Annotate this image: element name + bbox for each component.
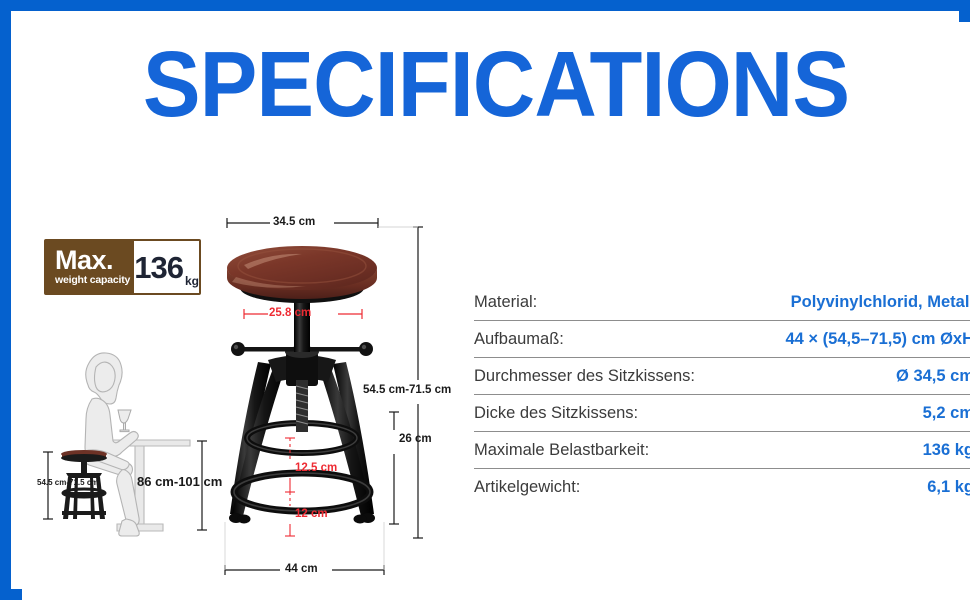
seat-base-plate (240, 273, 364, 303)
dimension-footring-lower (285, 492, 295, 536)
badge-unit: kg (185, 274, 199, 288)
badge-max-label: Max. (55, 248, 134, 273)
label-footring-upper: 12.5 cm (295, 462, 337, 474)
spec-value: Ø 34,5 cm (896, 367, 970, 386)
seated-person-silhouette (84, 353, 139, 536)
label-base-width: 44 cm (285, 563, 318, 575)
table-row: Maximale Belastbarkeit: 136 kg (474, 432, 970, 469)
label-footring-lower: 12 cm (295, 508, 328, 520)
specification-table: Material: Polyvinylchlorid, Metall Aufba… (474, 284, 970, 505)
table-row: Aufbaumaß: 44 × (54,5–71,5) cm ØxH (474, 321, 970, 358)
threaded-column (296, 380, 308, 432)
lower-foot-ring (234, 473, 370, 511)
seat-highlight-lower (232, 277, 306, 288)
max-weight-capacity-badge: Max. weight capacity 136 kg (44, 239, 201, 295)
bar-stool-product (227, 246, 377, 524)
page-inner: SPECIFICATIONS Max. weight capacity 136 … (22, 22, 970, 600)
spec-label: Artikelgewicht: (474, 478, 580, 497)
spec-label: Dicke des Sitzkissens: (474, 404, 638, 423)
dimension-footring-upper (285, 438, 295, 492)
spec-value: 6,1 kg (927, 478, 970, 497)
wine-glass-icon (118, 410, 131, 432)
badge-sub-label: weight capacity (55, 274, 134, 287)
spec-value: Polyvinylchlorid, Metall (791, 293, 970, 312)
table-row: Durchmesser des Sitzkissens: Ø 34,5 cm (474, 358, 970, 395)
label-seat-diameter: 34.5 cm (273, 216, 315, 228)
badge-right-panel: 136 kg (134, 241, 199, 293)
spec-label: Maximale Belastbarkeit: (474, 441, 649, 460)
table-row: Dicke des Sitzkissens: 5,2 cm (474, 395, 970, 432)
table-row: Artikelgewicht: 6,1 kg (474, 469, 970, 505)
label-silhouette-table-height: 86 cm-101 cm (137, 474, 222, 489)
table-row: Material: Polyvinylchlorid, Metall (474, 284, 970, 321)
page-frame: SPECIFICATIONS Max. weight capacity 136 … (0, 0, 970, 600)
page-title: SPECIFICATIONS (55, 34, 937, 134)
label-swivel-width: 25.8 cm (269, 307, 311, 319)
spec-value: 44 × (54,5–71,5) cm ØxH (786, 330, 970, 349)
dimension-total-height (378, 227, 423, 538)
seat-stitch-ring (238, 249, 366, 283)
spec-label: Aufbaumaß: (474, 330, 564, 349)
label-silhouette-seat-height: 54.5 cm-71.5 cm (37, 478, 98, 487)
badge-left-panel: Max. weight capacity (46, 241, 134, 293)
silhouette-scene (43, 353, 207, 536)
lower-foot-ring-highlight (234, 473, 370, 511)
seat-highlight (244, 254, 302, 269)
label-lower-height: 26 cm (399, 433, 432, 445)
spec-value: 5,2 cm (923, 404, 970, 423)
dimension-lower-height (389, 412, 399, 524)
spec-label: Durchmesser des Sitzkissens: (474, 367, 695, 386)
stool-legs (230, 362, 374, 516)
badge-value: 136 (134, 252, 183, 283)
stool-hub (268, 346, 336, 386)
upper-foot-ring (247, 423, 357, 453)
upper-foot-ring-highlight (247, 423, 357, 453)
spec-label: Material: (474, 293, 537, 312)
stool-dimension-lines (225, 218, 423, 575)
swivel-crossbar (231, 342, 373, 356)
spec-value: 136 kg (923, 441, 970, 460)
label-total-height: 54.5 cm-71.5 cm (363, 384, 451, 396)
seat-cushion-top (227, 246, 377, 290)
seat-cushion-side (227, 268, 377, 299)
